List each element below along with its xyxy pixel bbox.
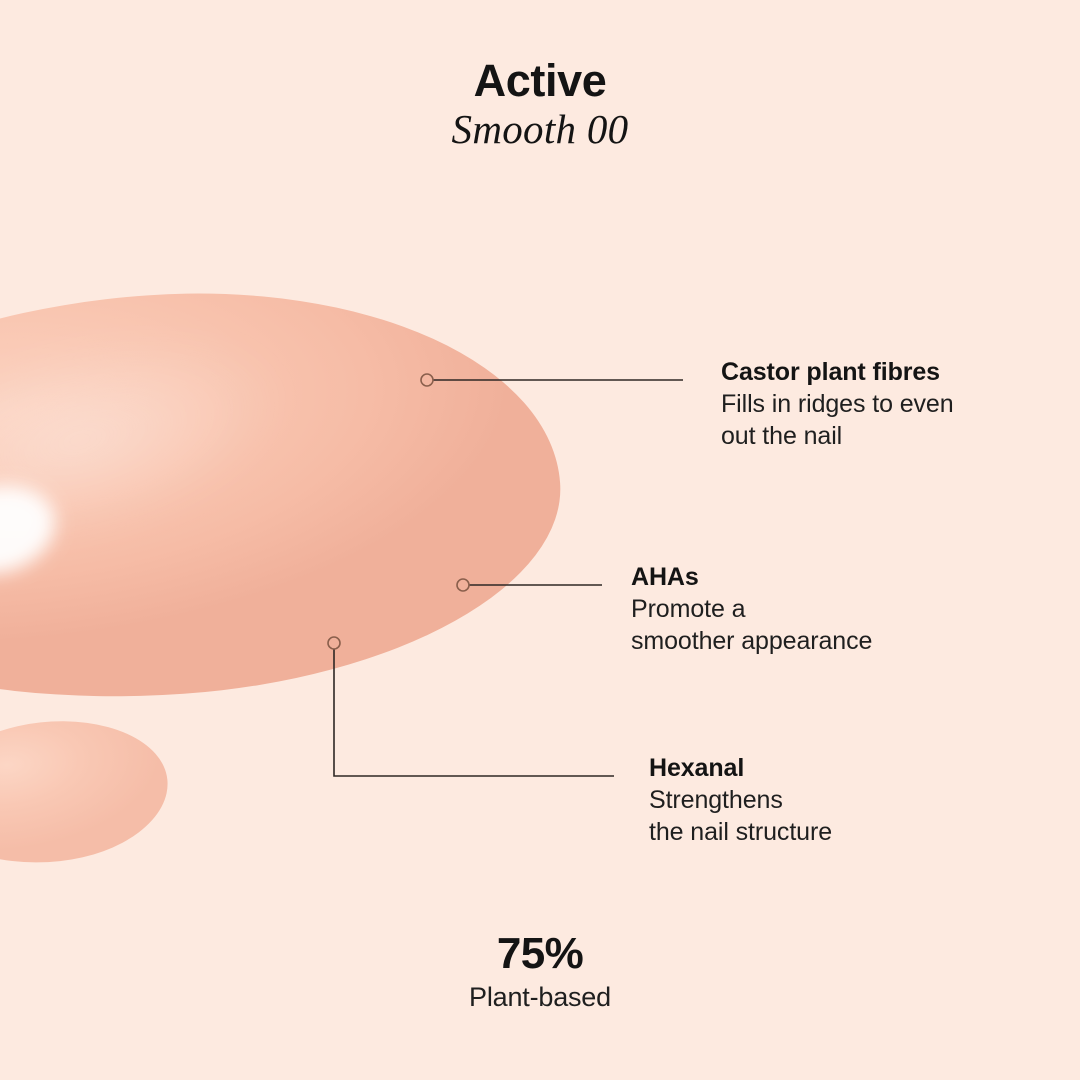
leader-lines — [0, 0, 1080, 1080]
plant-based-percentage: 75% — [0, 930, 1080, 978]
callout-ahas: AHAs Promote a smoother appearance — [631, 561, 961, 658]
leader-dot-castor — [421, 374, 433, 386]
callout-hexanal: Hexanal Strengthens the nail structure — [649, 752, 949, 849]
callout-body: Fills in ridges to even out the nail — [721, 389, 1021, 453]
callout-body: Strengthens the nail structure — [649, 785, 949, 849]
infographic-canvas: Active Smooth 00 Castor plant fibres Fil… — [0, 0, 1080, 1080]
callout-title: AHAs — [631, 561, 961, 593]
callout-title: Castor plant fibres — [721, 356, 1021, 388]
plant-based-label: Plant-based — [0, 980, 1080, 1015]
callout-castor-plant-fibres: Castor plant fibres Fills in ridges to e… — [721, 356, 1021, 453]
leader-dot-ahas — [457, 579, 469, 591]
callout-title: Hexanal — [649, 752, 949, 784]
leader-dot-hexanal — [328, 637, 340, 649]
footer: 75% Plant-based — [0, 930, 1080, 1015]
leader-line-hexanal — [334, 649, 614, 776]
callout-body: Promote a smoother appearance — [631, 594, 961, 658]
